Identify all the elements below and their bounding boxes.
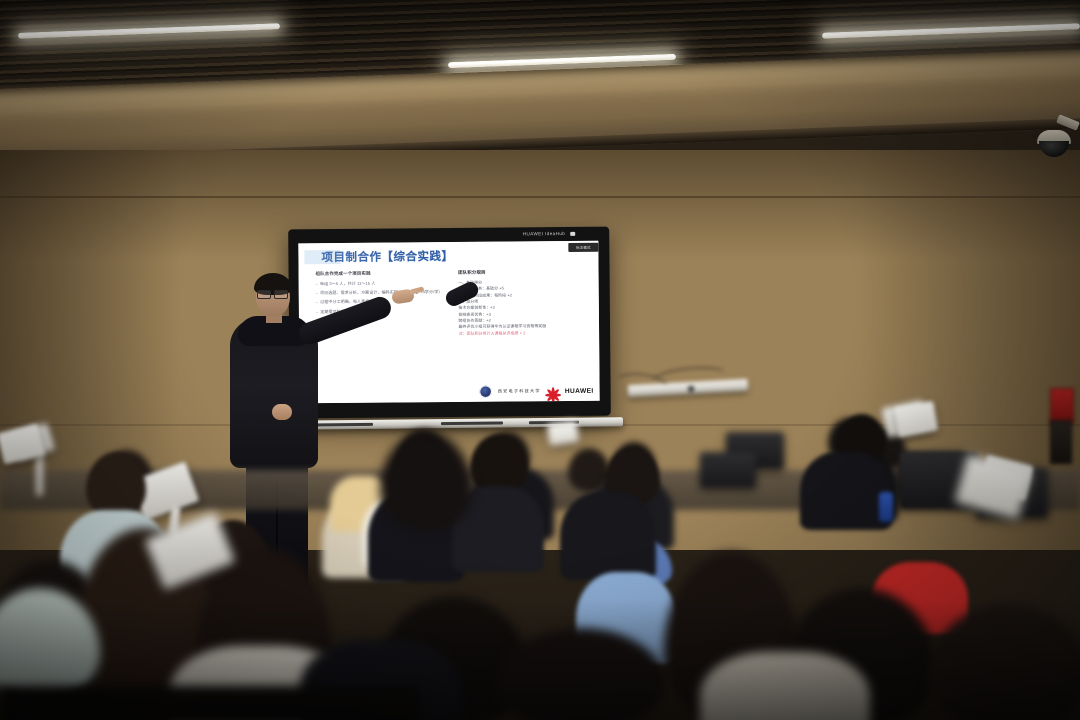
wall-seam	[0, 196, 1080, 198]
student-monitor-back-4	[700, 452, 756, 488]
right-column-heading: 团队积分规则	[458, 269, 591, 276]
slide-title: 项目制合作【综合实践】	[321, 248, 453, 265]
slide-logo-row: 西安电子科技大学 HUAWEI	[480, 385, 594, 398]
university-name: 西安电子科技大学	[498, 388, 541, 394]
slide-right-column: 团队积分规则 一、基础得分 完成项目任务：基础分 +5 按期提交阶段成果：每阶段…	[458, 269, 591, 337]
foreground-dark-desk	[0, 686, 420, 720]
huawei-wordmark: HUAWEI	[565, 387, 594, 394]
university-emblem-icon	[480, 386, 492, 398]
presenter-left-hand	[272, 404, 292, 420]
monitor-arm-b4	[36, 450, 43, 496]
wall-utility-box	[1050, 420, 1072, 464]
student-head-m4	[470, 434, 528, 494]
blue-water-bottle	[879, 492, 893, 522]
camera-dome-lens	[1039, 141, 1069, 157]
ptz-dome-camera-icon	[1037, 128, 1071, 158]
presenter-pointing-arm	[296, 294, 394, 348]
tray-slot-2	[441, 421, 503, 425]
foreground-body-cream	[700, 652, 870, 720]
right-line-9-highlight: 注：团队积分将计入课程总评成绩 × 2	[459, 329, 592, 336]
huawei-flower-icon	[547, 386, 559, 397]
glasses-icon	[257, 290, 288, 297]
display-brand-label: HUAWEI IdeaHub	[523, 231, 565, 236]
fire-extinguisher-cabinet	[1050, 388, 1074, 424]
annotation-mode-label: 标注模式	[568, 243, 598, 252]
display-camera-dot	[570, 231, 575, 235]
student-body-m4	[560, 492, 656, 580]
photo-scene: HUAWEI IdeaHub 项目制合作【综合实践】 标注模式 组队合作完成一个…	[0, 0, 1080, 720]
annotation-mode-button[interactable]: 标注模式	[568, 243, 598, 252]
student-arm-monitor-b3	[547, 420, 580, 446]
